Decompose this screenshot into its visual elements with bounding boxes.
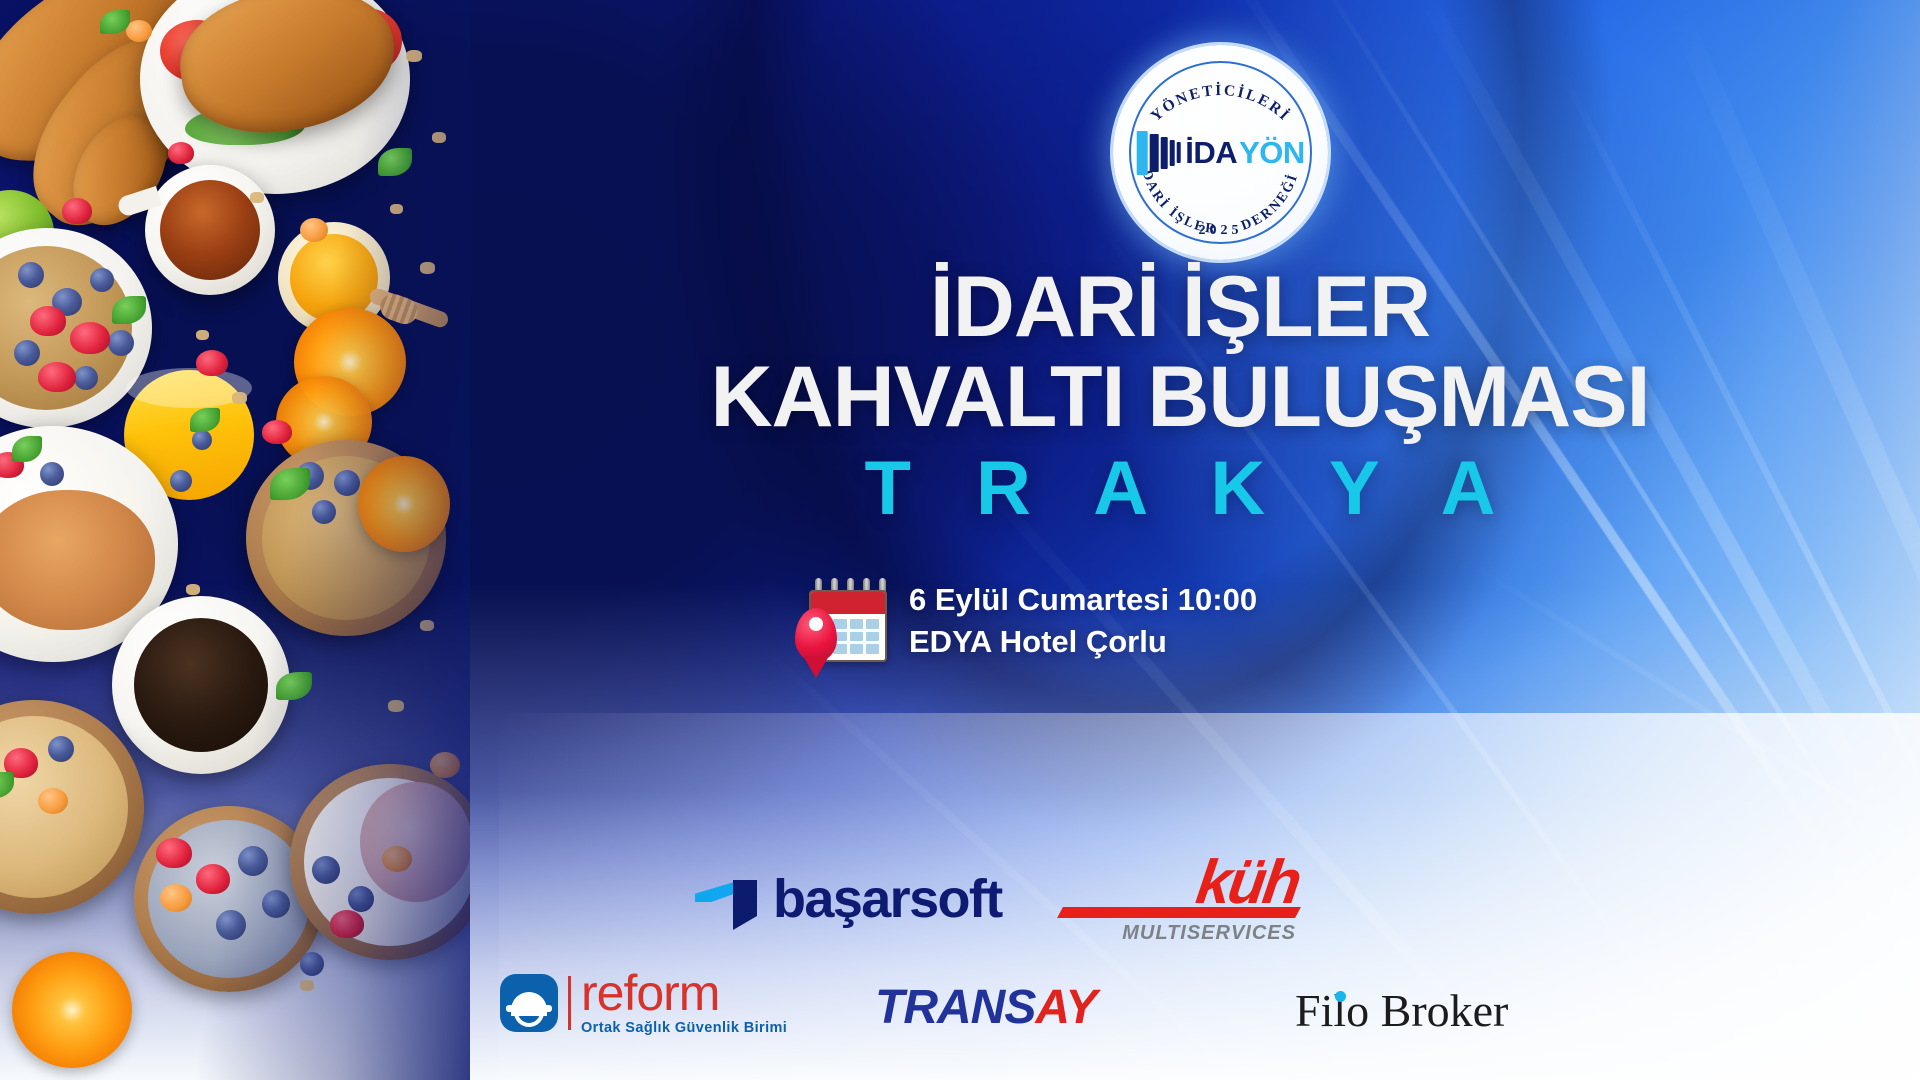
logo-bar-4 <box>1169 140 1174 166</box>
logo-bar-1 <box>1136 131 1147 175</box>
reform-label: reform <box>581 970 787 1018</box>
filo-broker-dot-icon <box>1335 991 1346 1002</box>
filo-broker-label: Filo Broker <box>1295 988 1508 1034</box>
logo-year: 2025 <box>1113 223 1328 239</box>
reform-tagline: Ortak Sağlık Güvenlik Birimi <box>581 1020 787 1036</box>
event-venue: EDYA Hotel Çorlu <box>909 621 1257 663</box>
kuh-label: küh <box>1193 856 1302 909</box>
logo-arc-top-label: YÖNETİCİLERİ <box>1148 82 1294 125</box>
calendar-location-icon <box>795 578 887 664</box>
event-headline: İDARİ İŞLER KAHVALTI BULUŞMASI T R A K Y… <box>470 262 1890 527</box>
logo-bar-5 <box>1176 142 1180 163</box>
svg-text:YÖNETİCİLERİ: YÖNETİCİLERİ <box>1148 82 1294 125</box>
idayon-logo: YÖNETİCİLERİ İDARİ İŞLER DERNEĞİ İDA YÖN… <box>1113 45 1328 260</box>
transay-label-part1: TRANS <box>875 984 1035 1032</box>
event-details-text: 6 Eylül Cumartesi 10:00 EDYA Hotel Çorlu <box>909 579 1257 663</box>
headline-line-1: İDARİ İŞLER <box>470 262 1890 352</box>
sponsor-reform[interactable]: reform Ortak Sağlık Güvenlik Birimi <box>500 970 787 1036</box>
logo-word-accent: YÖN <box>1239 137 1305 168</box>
transay-label-part2: AY <box>1035 984 1096 1032</box>
sponsor-kuh[interactable]: küh MULTISERVICES <box>1060 856 1298 945</box>
event-details: 6 Eylül Cumartesi 10:00 EDYA Hotel Çorlu <box>795 578 1257 664</box>
sponsor-transay[interactable]: TRANSAY <box>875 984 1096 1032</box>
logo-bar-2 <box>1149 134 1158 172</box>
basarsoft-label: başarsoft <box>773 872 1002 926</box>
event-datetime: 6 Eylül Cumartesi 10:00 <box>909 579 1257 621</box>
kuh-underline-icon <box>1057 907 1301 918</box>
reform-divider <box>568 976 571 1030</box>
basarsoft-arrow-icon <box>695 868 757 930</box>
headline-line-2: KAHVALTI BULUŞMASI <box>470 352 1890 442</box>
filo-broker-text: Filo Broker <box>1295 985 1508 1036</box>
safety-helmet-icon <box>500 974 558 1032</box>
logo-bar-3 <box>1160 137 1167 169</box>
banner-root: YÖNETİCİLERİ İDARİ İŞLER DERNEĞİ İDA YÖN… <box>0 0 1920 1080</box>
sponsor-filo-broker[interactable]: Filo Broker <box>1295 988 1508 1034</box>
logo-word-dark: İDA <box>1185 137 1237 168</box>
sponsor-logos: başarsoft küh MULTISERVICES reform Ortak… <box>470 850 1920 1080</box>
logo-wordmark: İDA YÖN <box>1136 131 1305 175</box>
kuh-tagline: MULTISERVICES <box>1122 922 1296 945</box>
sponsor-basarsoft[interactable]: başarsoft <box>695 868 1002 930</box>
location-pin-icon <box>795 608 837 662</box>
breakfast-spread-photo <box>0 0 470 1080</box>
reform-text: reform Ortak Sağlık Güvenlik Birimi <box>581 970 787 1036</box>
headline-region: T R A K Y A <box>470 451 1890 527</box>
